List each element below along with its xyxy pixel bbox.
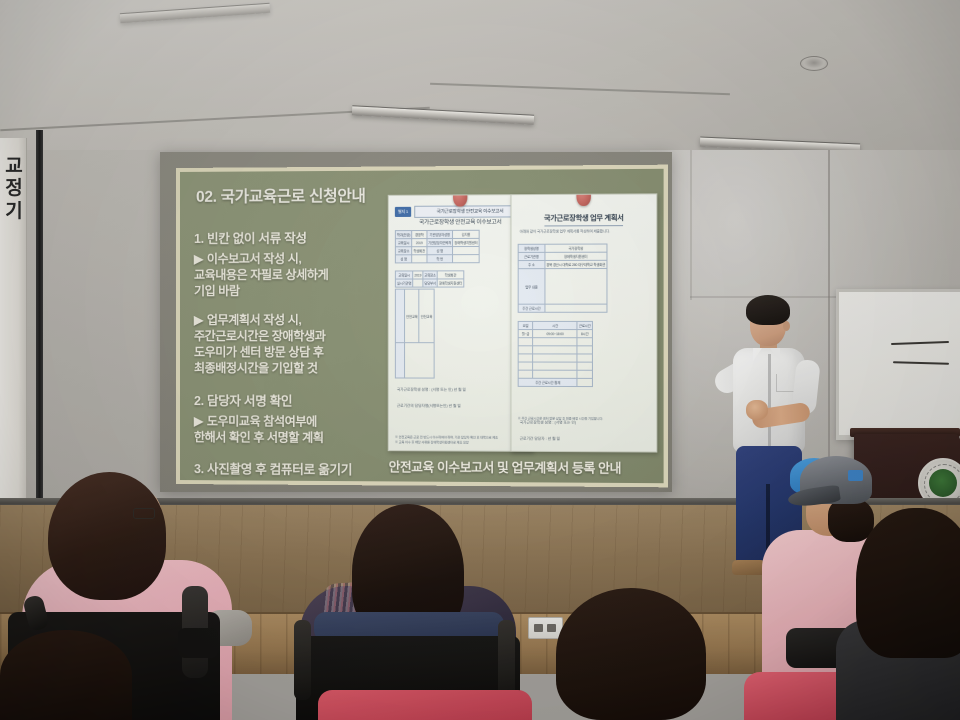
document-header-title: 국가근로장학생 안전교육 이수보고서 xyxy=(414,205,526,218)
table-cell xyxy=(545,268,607,304)
table-cell: 주간 근로시간 xyxy=(518,304,545,312)
table-row: 안전교육 안전교육 xyxy=(395,289,433,343)
slide-document-work-plan: 국가근로장학생 업무 계획서 아래와 같이 국가근로장학생 업무 계획서를 작성… xyxy=(510,193,657,452)
attendee-glasses-icon xyxy=(133,508,155,519)
table-cell xyxy=(533,338,577,346)
table-cell xyxy=(395,343,404,378)
document-schedule-table: 요일 시간 근로시간 월~금 09:00~18:00 8시간 xyxy=(518,321,593,387)
table-cell xyxy=(518,338,533,346)
document-sign-line: 근로기관의 담당자명(서명또는인) 년 월 일 xyxy=(397,404,524,409)
document-sign-line: 근로기관 담당자 : 년 월 일 xyxy=(520,437,648,443)
lecture-hall-photo: 교정기 02. 국가교육근로 신청안내 1. 빈칸 없이 서류 작성 ▶이수보고… xyxy=(0,0,960,720)
slide-subpoint: ▶이수보고서 작성 시, 교육내용은 자필로 상세하게 기입 바람 xyxy=(194,250,386,299)
table-cell: 실시기관명 xyxy=(395,279,412,287)
table-cell xyxy=(533,354,577,362)
outlet-socket xyxy=(534,624,543,632)
table-row xyxy=(518,346,592,354)
projection-screen-surface: 02. 국가교육근로 신청안내 1. 빈칸 없이 서류 작성 ▶이수보고서 작성… xyxy=(160,152,672,492)
ceiling-speaker-icon xyxy=(800,56,828,71)
table-cell: 담당부서 xyxy=(423,279,438,287)
table-row: 근로기관명 장애학생지원센터 xyxy=(518,252,607,260)
cap-logo xyxy=(848,470,863,481)
table-cell: 교육일시 xyxy=(395,271,412,279)
presentation-slide: 02. 국가교육근로 신청안내 1. 빈칸 없이 서류 작성 ▶이수보고서 작성… xyxy=(176,165,668,488)
document-header-row: 별지 1 국가근로장학생 안전교육 이수보고서 xyxy=(395,205,526,218)
document-header-title: 국가근로장학생 업무 계획서 xyxy=(511,213,656,227)
table-row: 학과(전공) 경영학 기관담당자성명 김지원 xyxy=(395,230,479,238)
table-cell: 기관담당자연락처 xyxy=(427,238,453,246)
presenter-collar xyxy=(753,348,762,361)
document-info-table: 학과(전공) 경영학 기관담당자성명 김지원 교육일시 2019 기관담당자연락… xyxy=(395,230,480,264)
table-cell: 국가장학생 xyxy=(545,244,607,252)
table-row: 교육일시 2019 교육장소 학생회관 xyxy=(395,271,463,279)
attendee-center-right-head xyxy=(556,588,706,720)
whiteboard-mark xyxy=(891,341,949,345)
table-cell: 장학생성명 xyxy=(518,244,545,252)
attendee-front-left-head xyxy=(0,630,132,720)
table-row: 주간 근로시간 합계 xyxy=(518,378,592,386)
slide-subpoint: ▶도우미교육 참석여부에 한해서 확인 후 서명할 계획 xyxy=(194,413,386,446)
slide-caption: 안전교육 이수보고서 및 업무계획서 등록 안내 xyxy=(351,456,659,477)
triangle-bullet-icon: ▶ xyxy=(194,252,203,266)
table-cell xyxy=(577,346,592,354)
table-cell xyxy=(413,279,423,287)
table-cell xyxy=(533,362,577,370)
table-row: 요일 시간 근로시간 xyxy=(518,321,592,329)
table-row: 장학생성명 국가장학생 xyxy=(518,244,607,252)
table-cell xyxy=(533,346,577,354)
table-cell: 8시간 xyxy=(577,330,592,338)
total-label: 주간 근로시간 합계 xyxy=(518,378,577,386)
table-row: 월~금 09:00~18:00 8시간 xyxy=(518,330,592,338)
slide-subpoint-line: 교육내용은 자필로 상세하게 xyxy=(194,267,386,284)
table-row xyxy=(518,362,592,370)
attendee-hair xyxy=(856,508,960,658)
table-cell xyxy=(577,354,592,362)
slide-subpoint-line: 한해서 확인 후 서명할 계획 xyxy=(194,429,386,446)
wall-panel-seam xyxy=(690,150,692,300)
table-cell: 경북 경산시 대학로 280 대구대학교 학생회관 xyxy=(545,260,607,268)
document-info-table: 장학생성명 국가장학생 근로기관명 장애학생지원센터 주 소 경북 경산시 대학… xyxy=(518,244,608,313)
triangle-bullet-icon: ▶ xyxy=(194,313,203,327)
auditorium-seat xyxy=(318,690,532,720)
table-cell: 학과(전공) xyxy=(395,231,412,239)
table-row: 교육장소 학생회관 성 명 xyxy=(395,246,479,254)
document-content-table: 안전교육 안전교육 xyxy=(395,289,434,379)
table-row: 성 명 학 번 xyxy=(395,255,479,263)
slide-subpoint-line: 최종배정시간을 기입할 것 xyxy=(194,360,386,377)
footnote: ※ 교육 이수 후 해당 서류를 장애학생지원센터로 제출 요망 xyxy=(395,440,526,445)
wheelchair-post xyxy=(498,620,515,700)
presenter-hair xyxy=(746,295,790,325)
table-cell xyxy=(518,370,533,378)
table-cell xyxy=(577,362,592,370)
slide-section-number: 1. 빈칸 없이 서류 작성 xyxy=(194,227,386,247)
table-row xyxy=(518,354,592,362)
table-row xyxy=(518,338,592,346)
table-cell xyxy=(518,354,533,362)
slide-subpoint-lead: 이수보고서 작성 시, xyxy=(207,252,301,266)
table-cell: 교육장소 xyxy=(395,247,412,255)
document-sign-line: 국가근로장학생 성명 : (서명 또는 인) xyxy=(520,420,648,426)
pushpin-icon xyxy=(576,193,590,206)
column-header: 시간 xyxy=(533,321,577,329)
seal-core xyxy=(929,469,957,497)
slide-title: 02. 국가교육근로 신청안내 xyxy=(196,184,366,207)
presenter-hand xyxy=(746,400,768,420)
table-row: 주간 근로시간 xyxy=(518,304,607,312)
table-cell: 교육장소 xyxy=(423,271,438,279)
table-row: 실시기관명 담당부서 장애학생지원센터 xyxy=(395,279,463,287)
slide-subpoint-lead: 도우미교육 참석여부에 xyxy=(207,414,317,428)
projection-screen: 02. 국가교육근로 신청안내 1. 빈칸 없이 서류 작성 ▶이수보고서 작성… xyxy=(160,152,672,492)
table-cell xyxy=(395,289,404,343)
column-header: 요일 xyxy=(518,321,533,329)
banner-pole xyxy=(36,130,43,550)
table-cell xyxy=(405,343,434,378)
slide-subpoint-line: 기입 바람 xyxy=(194,283,386,299)
left-edge-banner: 교정기 xyxy=(0,138,27,538)
table-row xyxy=(395,343,433,378)
wheelchair-arm-pad xyxy=(178,628,218,658)
document-info-table-2: 교육일시 2019 교육장소 학생회관 실시기관명 담당부서 장애학생지원센터 xyxy=(395,270,464,287)
table-cell: 학생회관 xyxy=(437,271,463,279)
table-cell xyxy=(577,378,592,386)
table-cell xyxy=(545,304,607,312)
sign-line-text: 근로기관 담당자 : 년 월 일 xyxy=(520,437,560,442)
table-cell: 장애학생지원센터 xyxy=(453,238,479,246)
slide-subpoint-lead: 업무계획서 작성 시, xyxy=(207,313,301,327)
table-cell: 경영학 xyxy=(412,230,427,238)
presenter-collar xyxy=(770,348,780,361)
table-cell: 교육일시 xyxy=(395,239,412,247)
table-cell xyxy=(453,255,479,263)
table-cell: 학생회관 xyxy=(412,247,427,255)
table-row xyxy=(518,370,592,378)
whiteboard xyxy=(836,289,960,440)
table-cell xyxy=(412,255,427,263)
table-row: 주 소 경북 경산시 대학로 280 대구대학교 학생회관 xyxy=(518,260,607,268)
table-cell: 장애학생지원센터 xyxy=(437,279,463,287)
table-cell xyxy=(518,346,533,354)
table-cell: 기관담당자성명 xyxy=(427,230,453,238)
slide-subpoint: ▶업무계획서 작성 시, 주간근로시간은 장애학생과 도우미가 센터 방문 상담… xyxy=(194,312,386,377)
table-cell: 학 번 xyxy=(427,255,453,263)
table-cell xyxy=(533,370,577,378)
table-cell: 안전교육 xyxy=(405,289,420,343)
slide-subpoint-line: 주간근로시간은 장애학생과 xyxy=(194,328,386,344)
table-cell xyxy=(577,370,592,378)
wheelchair-post xyxy=(294,620,311,700)
outlet-socket xyxy=(547,624,556,632)
document-footnotes: ※ 안전교육은 근로 전 반드시 이수하여야 하며, 기관 담당자 확인 후 대… xyxy=(395,435,526,445)
table-cell: 월~금 xyxy=(518,330,533,338)
slide-subpoint-line: 도우미가 센터 방문 상담 후 xyxy=(194,344,386,360)
slide-section-number: 2. 담당자 서명 확인 xyxy=(194,390,386,410)
table-cell: 장애학생지원센터 xyxy=(545,252,607,260)
whiteboard-mark xyxy=(893,361,949,364)
table-cell: 09:00~18:00 xyxy=(533,330,577,338)
table-cell: 주 소 xyxy=(518,260,545,268)
table-cell: 근로기관명 xyxy=(518,252,545,260)
table-cell: 성 명 xyxy=(427,247,453,255)
table-cell xyxy=(518,362,533,370)
table-cell: 2019 xyxy=(413,271,423,279)
presenter-shirt-placket xyxy=(768,354,771,450)
presenter-ear xyxy=(783,321,790,331)
table-cell: 2019 xyxy=(412,239,427,247)
sign-line-text: 국가근로장학생 성명 : (서명 또는 인) 년 월 일 xyxy=(397,388,466,393)
slide-bullet-list: 1. 빈칸 없이 서류 작성 ▶이수보고서 작성 시, 교육내용은 자필로 상세… xyxy=(194,227,386,482)
triangle-bullet-icon: ▶ xyxy=(194,414,203,428)
document-tag-label: 별지 1 xyxy=(395,207,411,217)
table-cell: 성 명 xyxy=(395,255,412,263)
table-cell xyxy=(453,246,479,254)
left-banner-text: 교정기 xyxy=(2,156,26,223)
attendee-hair xyxy=(48,472,166,600)
document-intro-text: 아래와 같이 국가근로장학생 업무 계획서를 작성하여 제출합니다. xyxy=(520,229,648,234)
table-cell: 안전교육 xyxy=(419,289,434,343)
table-cell: 김지원 xyxy=(453,230,479,238)
table-cell: 업무 내용 xyxy=(518,269,545,305)
table-row: 교육일시 2019 기관담당자연락처 장애학생지원센터 xyxy=(395,238,479,246)
column-header: 근로시간 xyxy=(577,321,592,329)
sign-line-text: 국가근로장학생 성명 : (서명 또는 인) xyxy=(520,420,576,425)
document-sign-line: 국가근로장학생 성명 : (서명 또는 인) 년 월 일 xyxy=(397,388,524,393)
table-row: 업무 내용 xyxy=(518,268,607,304)
sign-line-text: 근로기관의 담당자명(서명또는인) 년 월 일 xyxy=(397,404,461,409)
table-cell xyxy=(577,338,592,346)
